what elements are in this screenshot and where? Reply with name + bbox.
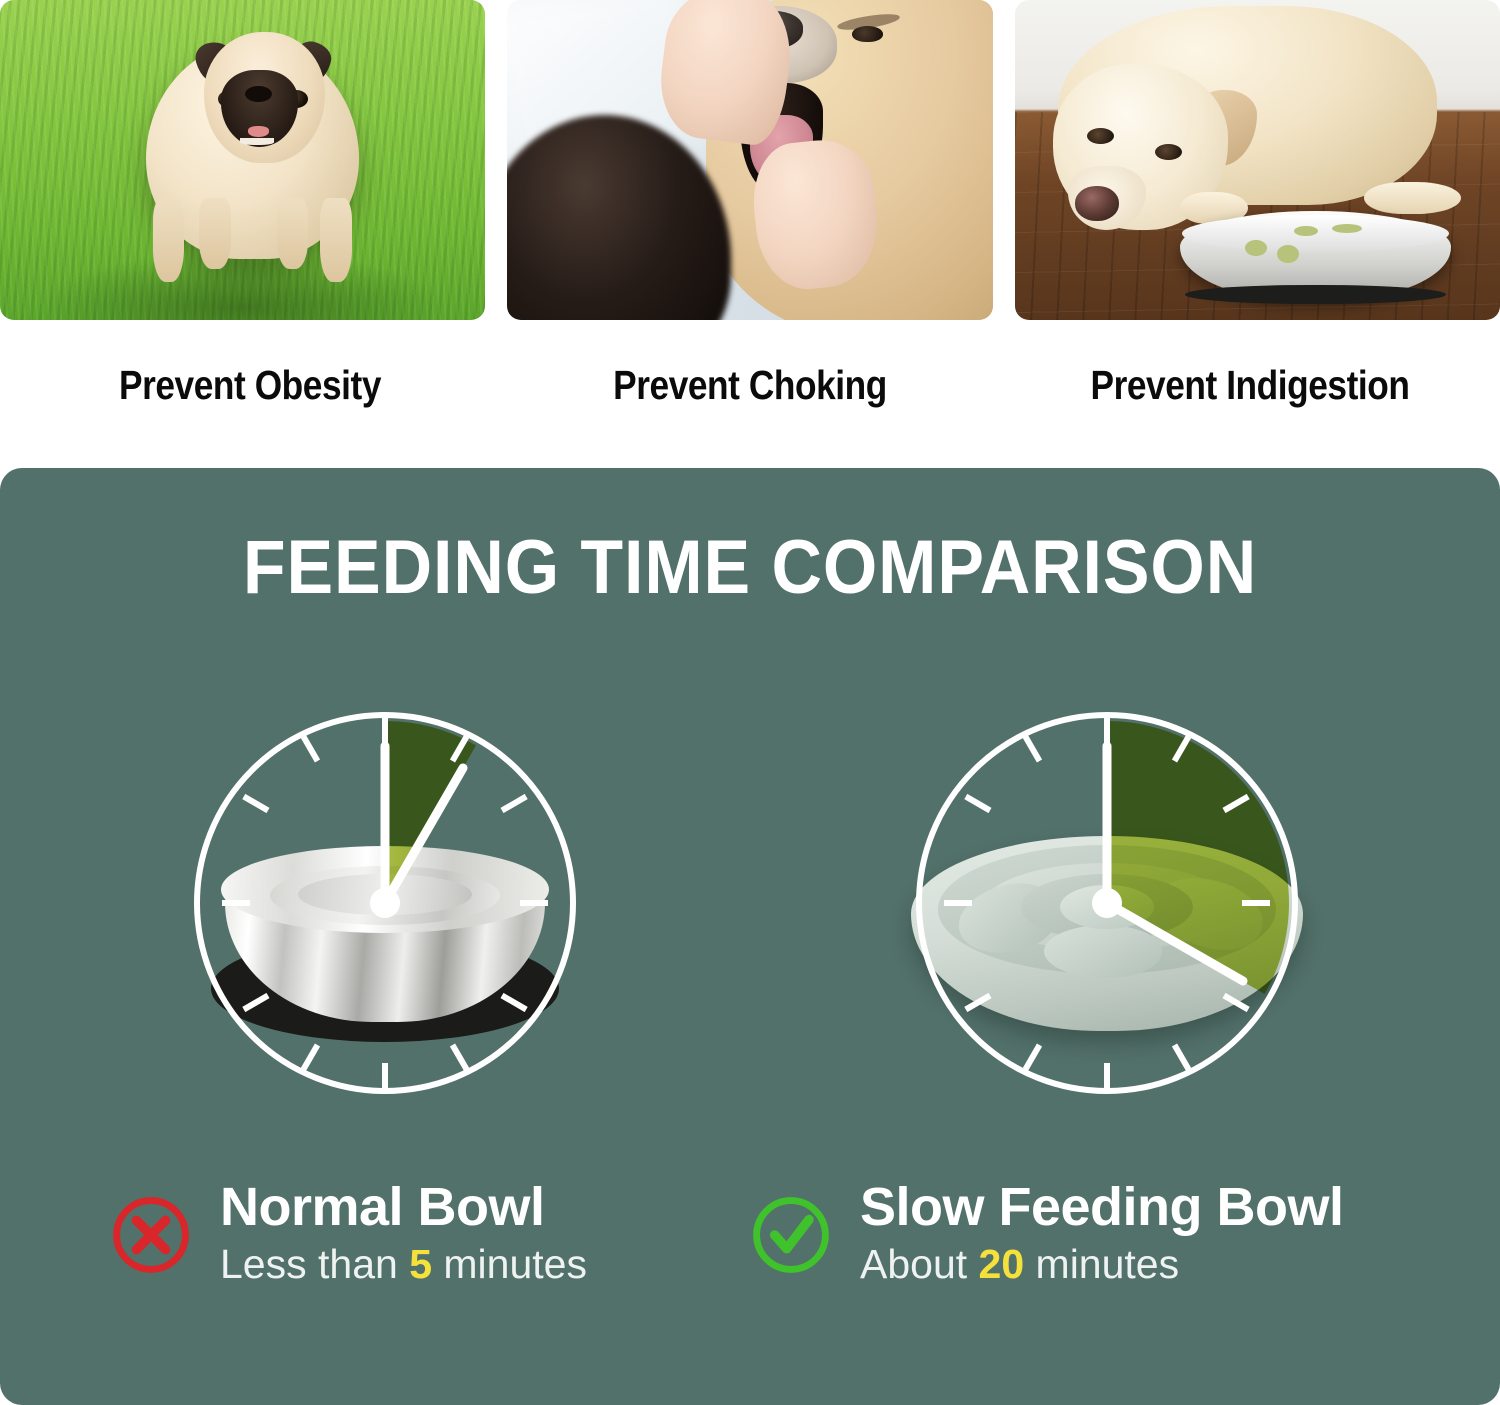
circled-check-icon xyxy=(748,1192,834,1278)
pug-leg xyxy=(199,198,231,268)
gauge-normal-bowl xyxy=(150,668,620,1138)
photo-card-prevent-obesity xyxy=(0,0,485,320)
gauge-center-hub xyxy=(370,888,400,918)
result-sub-value: 20 xyxy=(979,1241,1025,1287)
kibble xyxy=(1245,240,1267,256)
result-normal-bowl: Normal Bowl Less than 5 minutes xyxy=(108,1178,587,1292)
result-text-block: Slow Feeding Bowl About 20 minutes xyxy=(860,1178,1344,1292)
pug-leg xyxy=(277,198,309,268)
photo-card-prevent-indigestion xyxy=(1015,0,1500,320)
pug-teeth xyxy=(240,138,274,145)
lethargic-labrador-beside-bowl-image xyxy=(1015,0,1500,320)
result-title: Slow Feeding Bowl xyxy=(860,1178,1344,1236)
gauge-row xyxy=(0,668,1500,1138)
benefit-caption-row: Prevent Obesity Prevent Choking Prevent … xyxy=(0,330,1500,440)
clock-gauge-slow xyxy=(872,668,1342,1138)
caption-prevent-obesity: Prevent Obesity xyxy=(35,330,465,440)
result-sub-prefix: About xyxy=(860,1241,979,1287)
result-sub-suffix: minutes xyxy=(1024,1241,1179,1287)
retriever-eye xyxy=(852,26,884,42)
result-sub-prefix: Less than xyxy=(220,1241,409,1287)
feeding-time-comparison-panel: FEEDING TIME COMPARISON xyxy=(0,468,1500,1405)
result-subtitle: About 20 minutes xyxy=(860,1238,1344,1291)
result-title: Normal Bowl xyxy=(220,1178,587,1236)
labrador-nose xyxy=(1075,186,1119,221)
circled-x-icon xyxy=(108,1192,194,1278)
pug-leg xyxy=(153,198,185,281)
result-sub-value: 5 xyxy=(409,1241,432,1287)
labrador-eye xyxy=(1155,144,1182,160)
pug-leg xyxy=(320,198,352,281)
panel-title: FEEDING TIME COMPARISON xyxy=(60,524,1440,611)
caption-prevent-choking: Prevent Choking xyxy=(535,330,965,440)
kibble xyxy=(1277,245,1299,263)
result-subtitle: Less than 5 minutes xyxy=(220,1238,587,1291)
result-sub-suffix: minutes xyxy=(432,1241,587,1287)
photo-card-prevent-choking xyxy=(507,0,992,320)
benefit-photo-strip xyxy=(0,0,1500,320)
result-slow-feeding-bowl: Slow Feeding Bowl About 20 minutes xyxy=(748,1178,1344,1292)
person-head-silhouette xyxy=(507,115,730,320)
labrador-eye xyxy=(1087,128,1114,144)
gauge-center-hub xyxy=(1092,888,1122,918)
dog-choking-mouth-held-open-image xyxy=(507,0,992,320)
steel-food-bowl xyxy=(1180,211,1452,301)
gauge-slow-feeding-bowl xyxy=(872,668,1342,1138)
clock-gauge-normal xyxy=(150,668,620,1138)
overweight-pug-on-grass-image xyxy=(0,0,485,320)
result-text-block: Normal Bowl Less than 5 minutes xyxy=(220,1178,587,1292)
caption-prevent-indigestion: Prevent Indigestion xyxy=(1035,330,1465,440)
result-row: Normal Bowl Less than 5 minutes Slow Fee… xyxy=(0,1178,1500,1318)
kibble xyxy=(1332,224,1362,233)
labrador-paw xyxy=(1364,182,1461,214)
